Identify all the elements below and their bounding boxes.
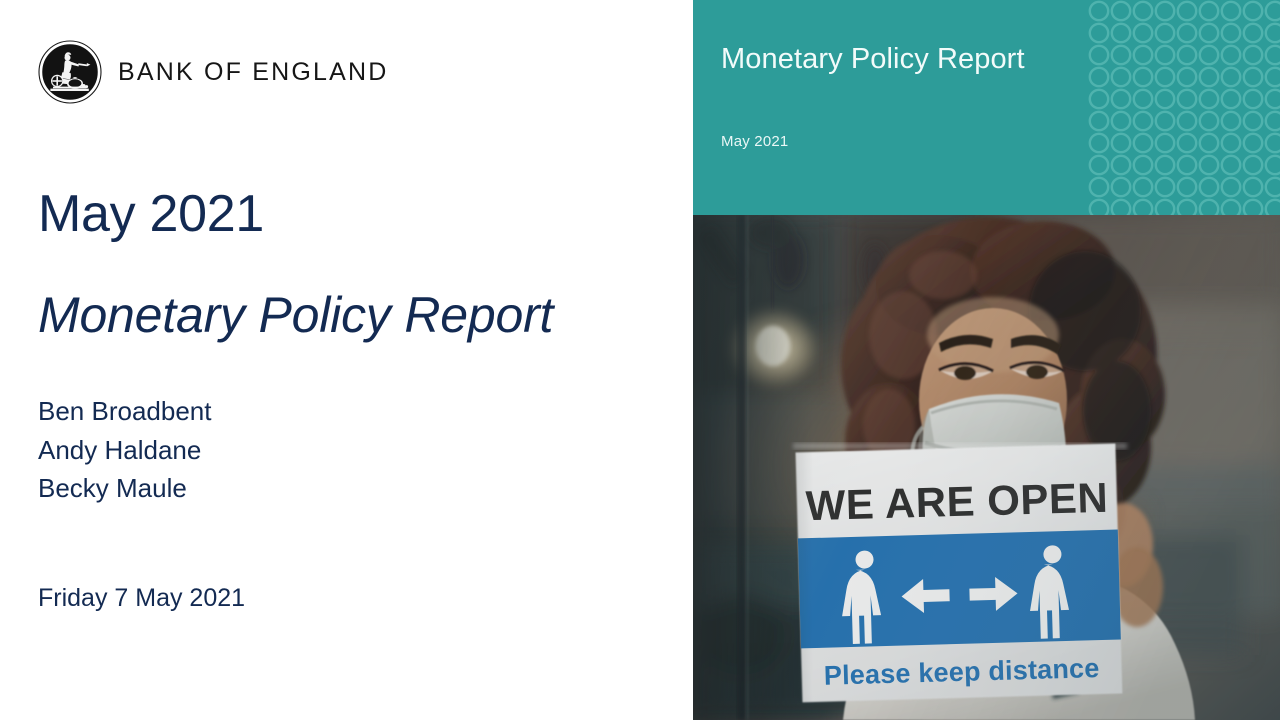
speaker-name: Ben Broadbent [38, 392, 211, 431]
shop-open-sign-photo: WE ARE OPEN [693, 215, 1280, 720]
bank-of-england-seal-icon [38, 40, 102, 104]
cover-photograph: WE ARE OPEN [693, 215, 1280, 720]
cover-header-band: Monetary Policy Report May 2021 [693, 0, 1280, 215]
speaker-list: Ben Broadbent Andy Haldane Becky Maule [38, 392, 211, 508]
slide-title-report: Monetary Policy Report [38, 290, 553, 340]
speaker-name: Andy Haldane [38, 431, 211, 470]
presentation-date: Friday 7 May 2021 [38, 586, 245, 611]
speaker-name: Becky Maule [38, 469, 211, 508]
cover-title: Monetary Policy Report [721, 44, 1025, 76]
slide-title-month: May 2021 [38, 188, 264, 240]
report-cover-panel: Monetary Policy Report May 2021 [693, 0, 1280, 720]
cover-date: May 2021 [721, 134, 788, 149]
circle-grid-pattern-icon [1088, 0, 1280, 215]
left-title-panel: BANK OF ENGLAND May 2021 Monetary Policy… [0, 0, 693, 720]
bank-of-england-wordmark: BANK OF ENGLAND [118, 60, 389, 85]
presentation-slide: BANK OF ENGLAND May 2021 Monetary Policy… [0, 0, 1280, 720]
bank-of-england-logo: BANK OF ENGLAND [38, 40, 389, 104]
